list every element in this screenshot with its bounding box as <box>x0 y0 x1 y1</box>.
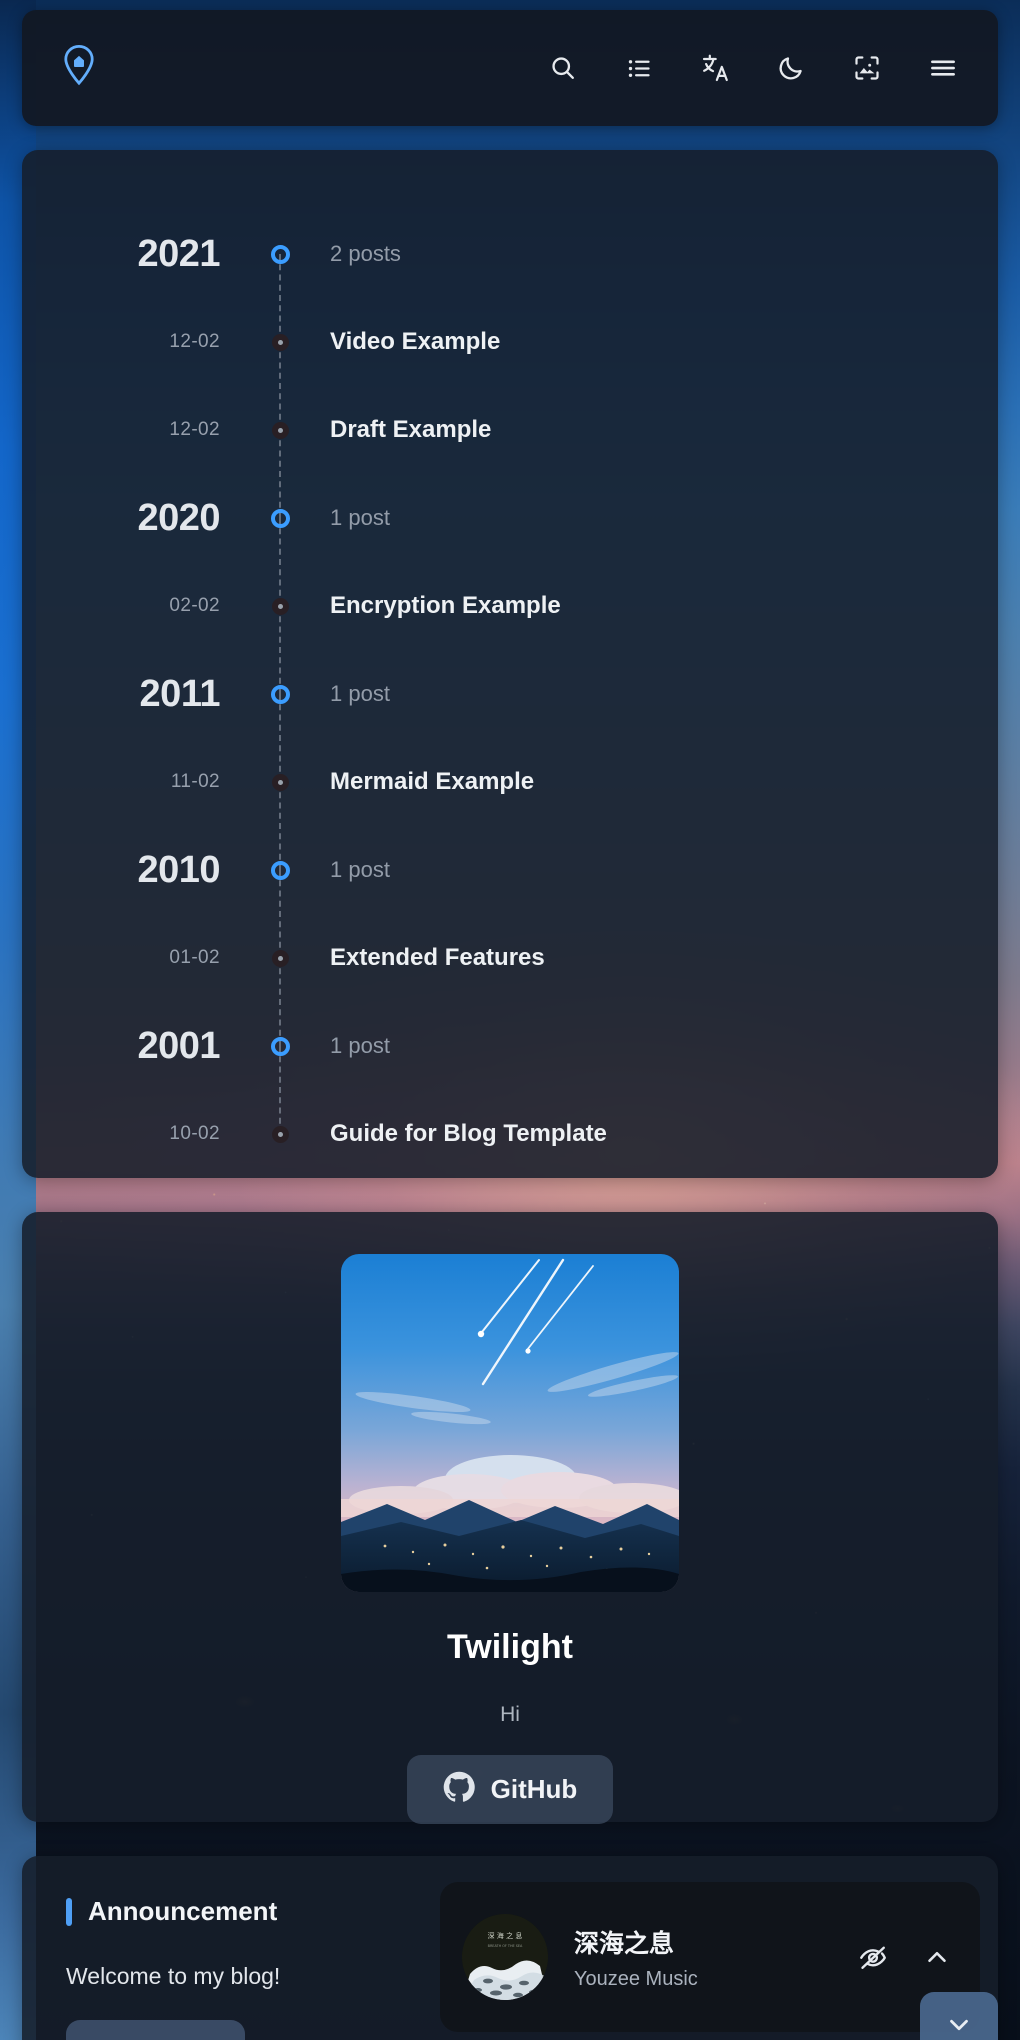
hamburger-icon[interactable] <box>926 51 960 85</box>
chevron-down-icon <box>944 2010 974 2040</box>
avatar[interactable] <box>341 1254 679 1592</box>
timeline-year-dot-icon <box>271 861 290 880</box>
timeline-year-label: 2011 <box>22 673 220 716</box>
github-button[interactable]: GitHub <box>407 1755 614 1824</box>
timeline-post-count: 2 posts <box>330 241 998 267</box>
archive-timeline-card: 20212 posts12-02Video Example12-02Draft … <box>22 150 998 1178</box>
chevron-up-icon[interactable] <box>920 1940 954 1974</box>
github-button-label: GitHub <box>491 1774 578 1805</box>
site-logo-button[interactable] <box>60 44 98 93</box>
eye-off-icon[interactable] <box>856 1940 890 1974</box>
timeline-post-row[interactable]: 01-02Extended Features <box>22 914 998 1002</box>
github-icon <box>443 1771 475 1808</box>
timeline-post-title[interactable]: Extended Features <box>330 944 998 972</box>
timeline-date-label: 02-02 <box>22 595 220 617</box>
timeline-list: 20212 posts12-02Video Example12-02Draft … <box>22 210 998 1178</box>
music-meta: 深海之息 Youzee Music <box>574 1924 856 1991</box>
timeline-year-label: 2001 <box>22 1025 220 1068</box>
announcement-title: Announcement <box>88 1896 277 1927</box>
timeline-connector <box>279 782 281 870</box>
timeline-post-count: 1 post <box>330 857 998 883</box>
timeline-year-row: 20011 post <box>22 1002 998 1090</box>
music-player: 深 海 之 息 BREATH OF THE SEA 深海之息 Youzee Mu… <box>440 1882 980 2032</box>
timeline-connector <box>279 1046 281 1134</box>
timeline-post-dot-icon <box>272 422 289 439</box>
timeline-connector <box>279 958 281 1046</box>
timeline-connector <box>279 342 281 430</box>
music-title: 深海之息 <box>574 1924 856 1960</box>
timeline-date-label: 11-02 <box>22 771 220 793</box>
timeline-post-count: 1 post <box>330 1033 998 1059</box>
timeline-date-label: 12-02 <box>22 419 220 441</box>
music-artist: Youzee Music <box>574 1968 856 1991</box>
timeline-connector <box>279 870 281 958</box>
timeline-year-dot-icon <box>271 509 290 528</box>
timeline-year-row: 20201 post <box>22 474 998 562</box>
timeline-post-title[interactable]: Guide for Blog Template <box>330 1120 998 1148</box>
svg-text:BREATH OF THE SEA: BREATH OF THE SEA <box>488 1944 523 1948</box>
timeline-year-label: 2021 <box>22 233 220 276</box>
timeline-post-title[interactable]: Video Example <box>330 328 998 356</box>
timeline-post-row[interactable]: 02-02Encryption Example <box>22 562 998 650</box>
scroll-down-button[interactable] <box>920 1992 998 2040</box>
timeline-post-row[interactable]: 11-02Mermaid Example <box>22 738 998 826</box>
map-pin-home-icon <box>60 44 98 93</box>
search-icon[interactable] <box>546 51 580 85</box>
timeline-post-row[interactable]: 12-02Video Example <box>22 298 998 386</box>
timeline-post-dot-icon <box>272 334 289 351</box>
timeline-year-label: 2020 <box>22 497 220 540</box>
timeline-date-label: 10-02 <box>22 1123 220 1145</box>
timeline-year-label: 2010 <box>22 849 220 892</box>
timeline-connector <box>279 518 281 606</box>
timeline-year-row: 20101 post <box>22 826 998 914</box>
album-art[interactable]: 深 海 之 息 BREATH OF THE SEA <box>462 1914 548 2000</box>
timeline-year-row: 20212 posts <box>22 210 998 298</box>
site-header <box>22 10 998 126</box>
timeline-post-dot-icon <box>272 1126 289 1143</box>
timeline-year-dot-icon <box>271 245 290 264</box>
profile-name: Twilight <box>447 1628 573 1667</box>
svg-text:深 海 之 息: 深 海 之 息 <box>488 1931 523 1940</box>
timeline-post-row[interactable]: 10-02Guide for Blog Template <box>22 1090 998 1178</box>
timeline-marker <box>250 210 310 298</box>
profile-bio: Hi <box>500 1703 520 1727</box>
timeline-year-dot-icon <box>271 685 290 704</box>
timeline-post-title[interactable]: Encryption Example <box>330 592 998 620</box>
timeline-connector <box>279 606 281 694</box>
timeline-post-count: 1 post <box>330 505 998 531</box>
translate-icon[interactable] <box>698 51 732 85</box>
music-actions <box>856 1940 954 1974</box>
header-nav-icons <box>546 51 960 85</box>
learn-more-button[interactable]: Learn More <box>66 2020 245 2040</box>
timeline-connector <box>279 254 281 342</box>
list-icon[interactable] <box>622 51 656 85</box>
timeline-post-dot-icon <box>272 950 289 967</box>
timeline-post-row[interactable]: 12-02Draft Example <box>22 386 998 474</box>
timeline-post-count: 1 post <box>330 681 998 707</box>
timeline-year-row: 20111 post <box>22 650 998 738</box>
timeline-connector <box>279 694 281 782</box>
timeline-post-title[interactable]: Draft Example <box>330 416 998 444</box>
moon-icon[interactable] <box>774 51 808 85</box>
timeline-date-label: 12-02 <box>22 331 220 353</box>
timeline-date-label: 01-02 <box>22 947 220 969</box>
timeline-post-dot-icon <box>272 598 289 615</box>
announcement-accent-bar <box>66 1898 72 1926</box>
profile-card: Twilight Hi GitHub <box>22 1212 998 1822</box>
image-icon[interactable] <box>850 51 884 85</box>
timeline-year-dot-icon <box>271 1037 290 1056</box>
timeline-post-title[interactable]: Mermaid Example <box>330 768 998 796</box>
timeline-post-dot-icon <box>272 774 289 791</box>
timeline-connector <box>279 430 281 518</box>
